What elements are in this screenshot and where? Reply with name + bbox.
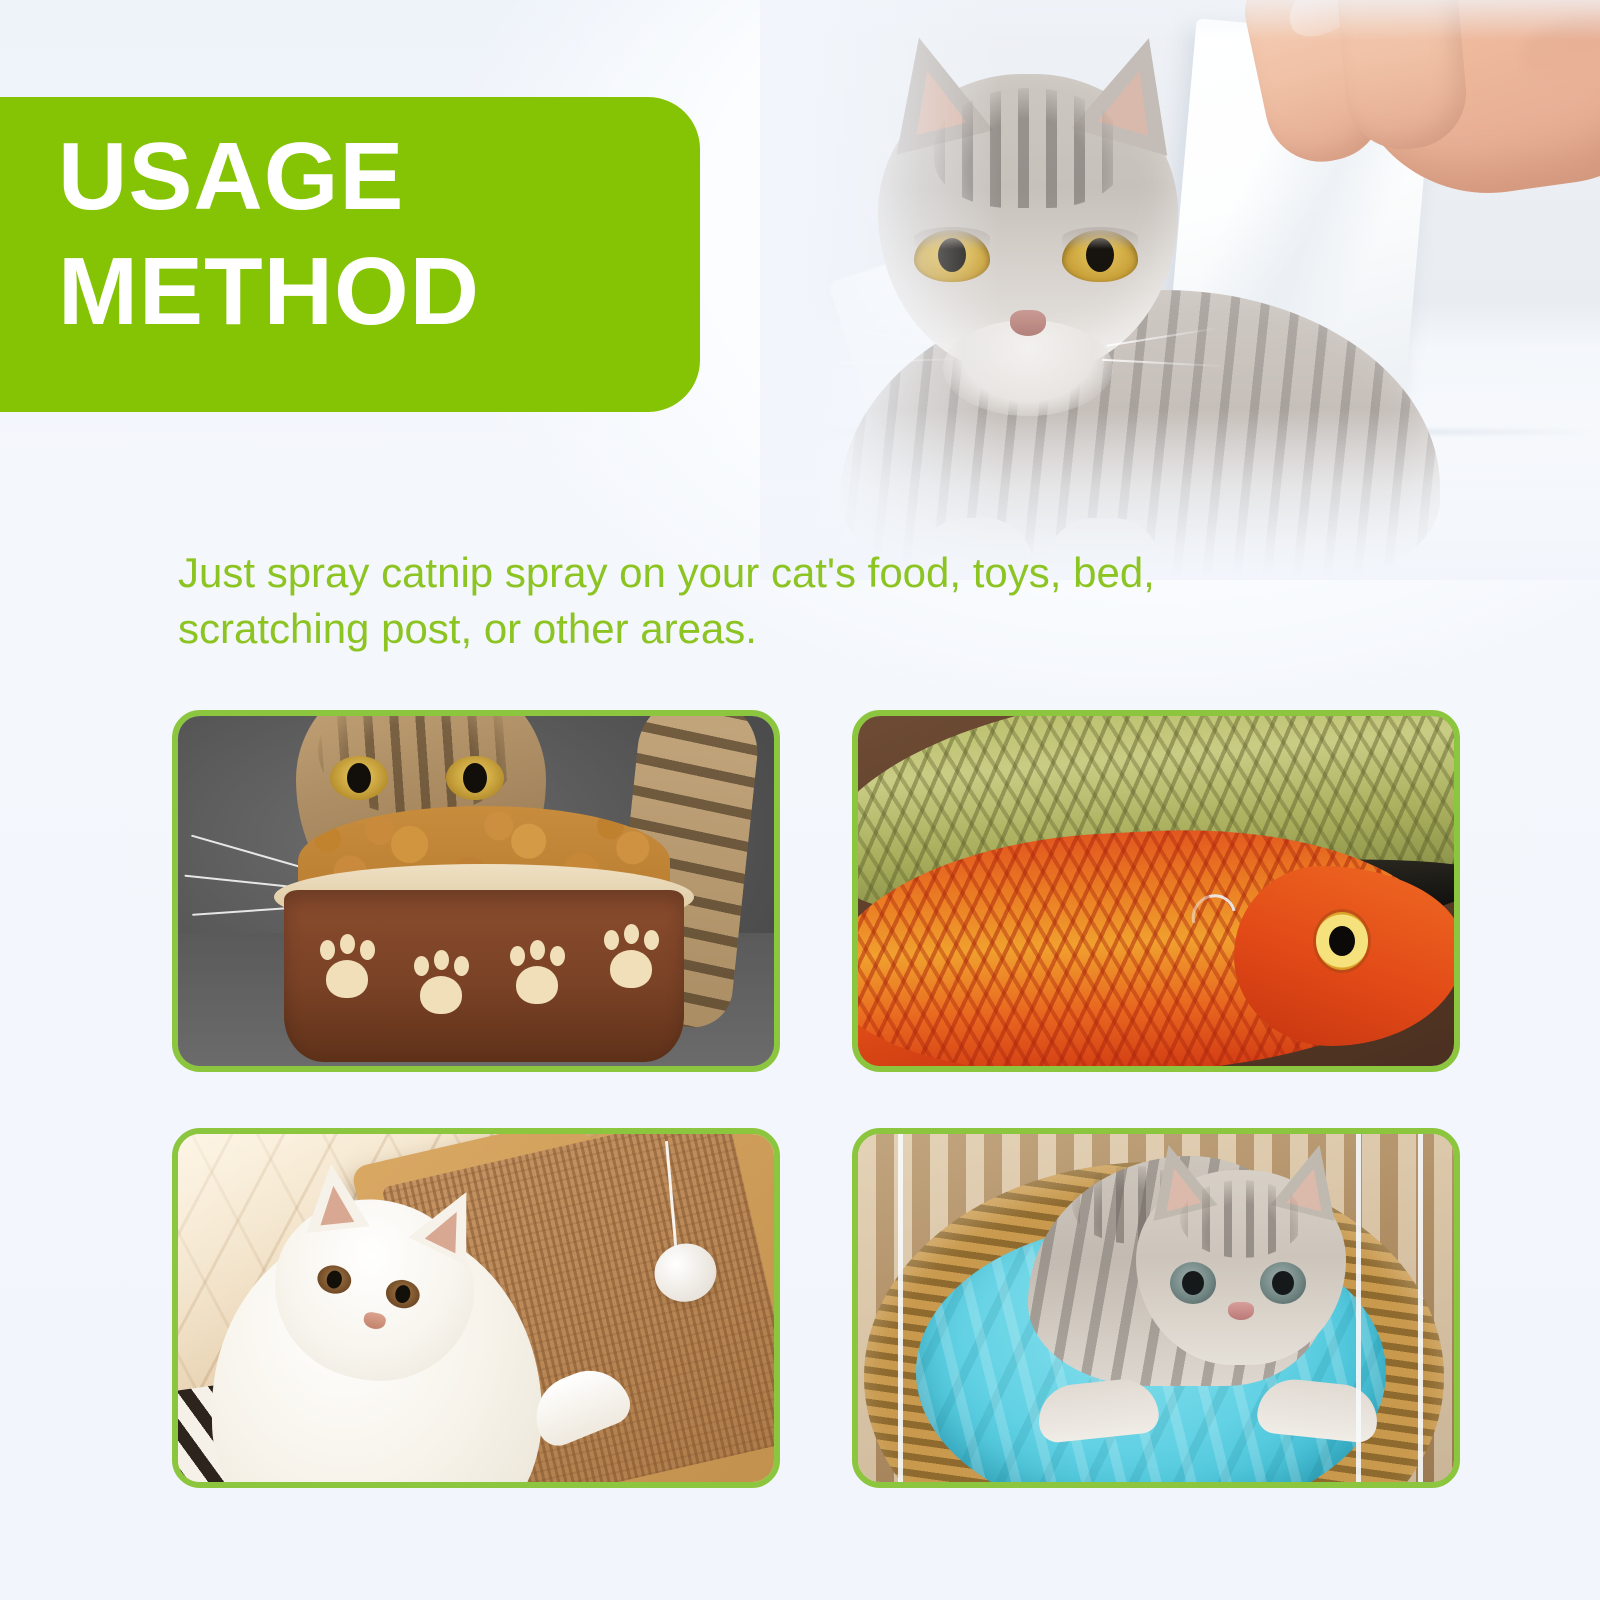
cat-pupil-right — [463, 763, 487, 793]
paw-toe — [550, 946, 565, 966]
paw-toe — [510, 946, 525, 966]
paw-toe — [320, 940, 335, 960]
cat-eye-right — [446, 756, 504, 800]
kitten-bed-scene — [858, 1134, 1454, 1482]
cat-pupil-right — [394, 1284, 412, 1305]
cat-ear-inner-left — [316, 1184, 354, 1225]
scratching-pad-scene — [178, 1134, 774, 1482]
paw-toe — [340, 934, 355, 954]
fish-pupil — [1329, 926, 1355, 956]
paw-toe — [604, 930, 619, 950]
cat-eye-right — [383, 1277, 422, 1311]
paw-pad — [516, 966, 558, 1004]
paw-toe — [454, 956, 469, 976]
paw-pad — [610, 950, 652, 988]
paw-pad — [326, 960, 368, 998]
usage-method-title-badge: USAGE METHOD — [0, 97, 700, 412]
plush-fish-toys-photo — [852, 710, 1460, 1072]
cat-nose — [362, 1311, 387, 1331]
cat-scratching-pad-photo — [172, 1128, 780, 1488]
paw-toe — [530, 940, 545, 960]
page-title-line-1: USAGE — [58, 119, 700, 234]
cat-ear-left — [299, 1161, 370, 1233]
paw-pad — [420, 976, 462, 1014]
usage-photo-gallery — [172, 710, 1460, 1488]
paw-toe — [360, 940, 375, 960]
cat-eyelid-right — [1062, 227, 1138, 249]
page-title-line-2: METHOD — [58, 234, 700, 349]
paw-toe — [414, 956, 429, 976]
food-bowl — [284, 890, 684, 1062]
fish-toys-scene — [858, 716, 1454, 1066]
cage-wires — [858, 1134, 1454, 1482]
infographic-page: USAGE METHOD Just spray catnip spray on … — [0, 0, 1600, 1600]
food-bowl-scene — [178, 716, 774, 1066]
cat-pupil-left — [325, 1269, 343, 1290]
description-line-1: Just spray catnip spray on your cat's fo… — [178, 545, 1298, 601]
cat-eye-left — [315, 1262, 354, 1296]
cat-ear-inner-right — [425, 1204, 472, 1253]
paw-toe — [434, 950, 449, 970]
cat-pupil-left — [347, 763, 371, 793]
usage-description: Just spray catnip spray on your cat's fo… — [178, 545, 1298, 657]
description-line-2: scratching post, or other areas. — [178, 601, 1298, 657]
paw-toe — [644, 930, 659, 950]
cat-nose — [1010, 310, 1046, 336]
fish-eye — [1316, 912, 1368, 970]
paw-toe — [624, 924, 639, 944]
cat-being-wiped-photo — [760, 0, 1600, 580]
kitten-in-bed-photo — [852, 1128, 1460, 1488]
cat-eating-food-bowl-photo — [172, 710, 780, 1072]
cat-eye-right — [1062, 230, 1138, 282]
cat-eye-left — [330, 756, 388, 800]
